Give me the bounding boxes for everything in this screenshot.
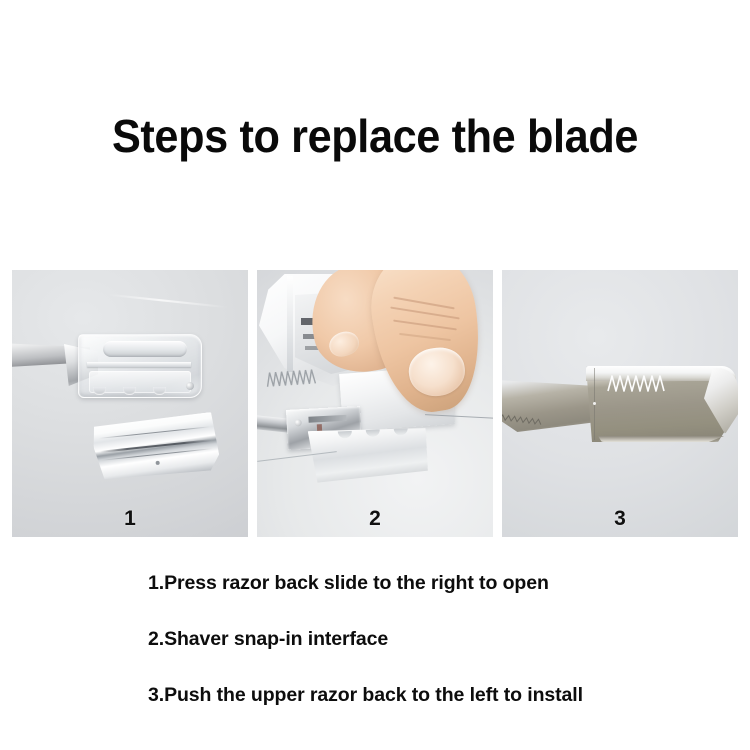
instruction-step-1: 1.Press razor back slide to the right to… (148, 572, 618, 594)
mechanism-pin-hole (295, 419, 302, 426)
instruction-step-3: 3.Push the upper razor back to the left … (148, 684, 618, 706)
cartridge-notch (394, 428, 408, 436)
mechanism-slot (308, 415, 346, 423)
cover-bar (87, 362, 191, 367)
instruction-list: 1.Press razor back slide to the right to… (148, 572, 618, 706)
step-panel-2: 2 (257, 270, 493, 537)
panel-1-background (12, 270, 248, 537)
cover-notch (93, 387, 106, 395)
cartridge-notch (338, 431, 352, 439)
cover-screw (186, 382, 194, 390)
panel-number-2: 2 (257, 507, 493, 531)
page-title: Steps to replace the blade (23, 108, 728, 164)
panel-number-3: 3 (502, 507, 738, 531)
step-panel-1: 1 (12, 270, 248, 537)
steps-panel-row: 1 (12, 270, 738, 537)
comb-teeth-icon (606, 374, 670, 392)
cartridge-notch (366, 429, 380, 437)
step-panel-3: 3 (502, 270, 738, 537)
blade-rivet (155, 461, 159, 465)
cover-notch (123, 387, 136, 395)
razor-transparent-cover (78, 334, 202, 398)
cover-notch (153, 387, 166, 395)
blade-edge-line (99, 426, 210, 439)
dispenser-edge-stripe (287, 276, 293, 372)
instruction-step-2: 2.Shaver snap-in interface (148, 628, 618, 650)
panel-number-1: 1 (12, 507, 248, 531)
razor-bottom-edge (598, 436, 724, 442)
cover-slot (103, 341, 187, 357)
razor-seam-pin (593, 402, 596, 405)
